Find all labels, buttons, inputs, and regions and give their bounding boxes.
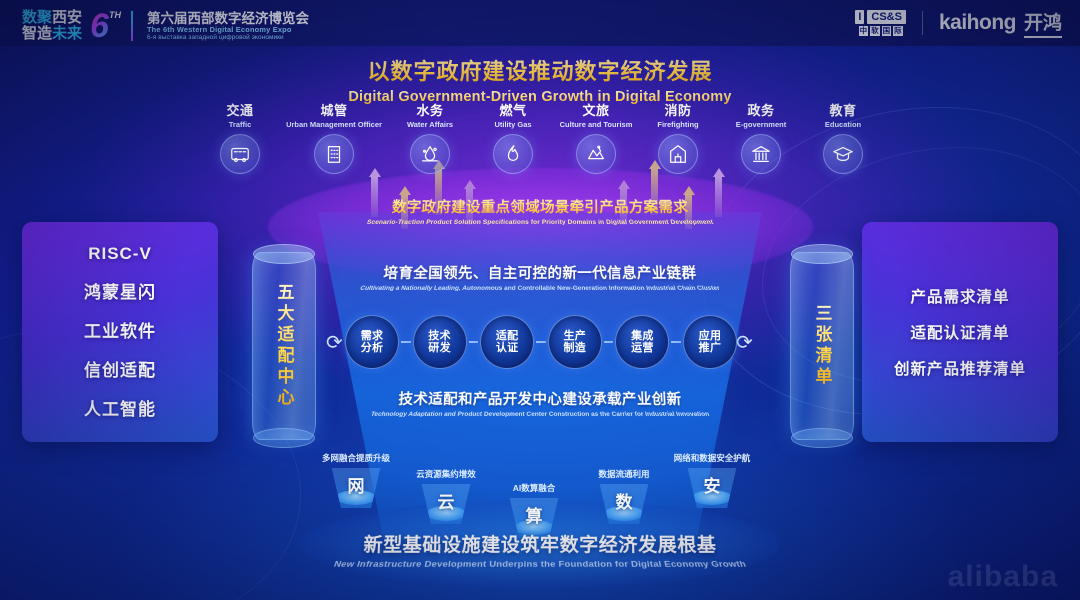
poster-canvas: 数聚西安 智造未来 6TH 第六届西部数字经济博览会 The 6th Weste… [0,0,1080,600]
pillar-left-label: 五大适配中心 [272,283,297,409]
pillar-right-label: 三张清单 [810,304,835,388]
watermark: alibaba [948,560,1058,594]
vignette-overlay [0,0,1080,600]
